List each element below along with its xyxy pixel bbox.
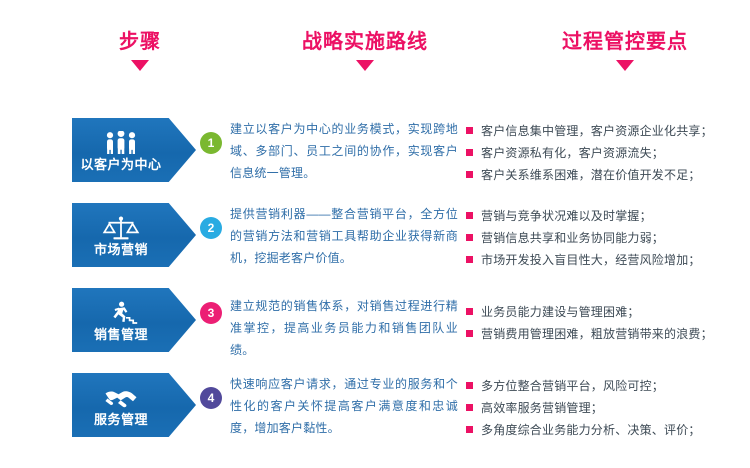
step-number-badge: 3 [200, 302, 222, 324]
square-bullet-icon [466, 404, 473, 411]
strategy-cell: 1 建立以客户为中心的业务模式，实现跨地域、多部门、员工之间的协作，实现客户信息… [198, 110, 460, 195]
header-title-strategy: 战略实施路线 [245, 30, 485, 54]
control-point-text: 市场开发投入盲目性大，经营风险增加； [481, 249, 701, 271]
list-item: 客户信息集中管理，客户资源企业化共享； [466, 120, 750, 142]
control-point-text: 营销费用管理困难，粗放营销带来的浪费； [481, 323, 713, 345]
control-points-cell: 业务员能力建设与管理困难； 营销费用管理困难，粗放营销带来的浪费； [466, 280, 750, 365]
column-headers: 步骤 战略实施路线 过程管控要点 [0, 30, 750, 92]
list-item: 营销与竞争状况难以及时掌握； [466, 205, 750, 227]
strategy-cell: 4 快速响应客户请求，通过专业的服务和个性化的客户关怀提高客户满意度和忠诚度，增… [198, 365, 460, 450]
runner-stairs-icon [101, 299, 141, 325]
stage-label: 以客户为中心 [80, 157, 161, 172]
header-column-control: 过程管控要点 [500, 30, 750, 71]
square-bullet-icon [466, 256, 473, 263]
square-bullet-icon [466, 426, 473, 433]
header-column-steps: 步骤 [50, 30, 230, 71]
stage-label: 市场营销 [94, 242, 148, 257]
strategy-description: 快速响应客户请求，通过专业的服务和个性化的客户关怀提高客户满意度和忠诚度，增加客… [230, 373, 458, 439]
stage-chevron-content: 服务管理 [72, 373, 170, 437]
stage-row: 销售管理 3 建立规范的销售体系，对销售过程进行精准掌控，提高业务员能力和销售团… [0, 280, 750, 365]
square-bullet-icon [466, 171, 473, 178]
control-point-text: 高效率服务营销管理； [481, 397, 603, 419]
square-bullet-icon [466, 308, 473, 315]
square-bullet-icon [466, 212, 473, 219]
caret-down-icon [131, 60, 149, 71]
control-point-text: 多方位整合营销平台，风险可控； [481, 375, 664, 397]
stage-chevron-customer-center[interactable]: 以客户为中心 [72, 118, 196, 182]
control-point-text: 客户资源私有化，客户资源流失； [481, 142, 664, 164]
square-bullet-icon [466, 149, 473, 156]
strategy-description: 建立以客户为中心的业务模式，实现跨地域、多部门、员工之间的协作，实现客户信息统一… [230, 118, 458, 184]
three-people-icon [101, 129, 141, 155]
stage-chevron-content: 销售管理 [72, 288, 170, 352]
list-item: 多方位整合营销平台，风险可控； [466, 375, 750, 397]
stage-chevron-content: 市场营销 [72, 203, 170, 267]
header-title-control: 过程管控要点 [500, 30, 750, 54]
stage-chevron-sales[interactable]: 销售管理 [72, 288, 196, 352]
square-bullet-icon [466, 127, 473, 134]
step-number-badge: 1 [200, 132, 222, 154]
handshake-icon [100, 384, 142, 410]
control-point-text: 业务员能力建设与管理困难； [481, 301, 640, 323]
list-item: 营销信息共享和业务协同能力弱； [466, 227, 750, 249]
stage-row: 服务管理 4 快速响应客户请求，通过专业的服务和个性化的客户关怀提高客户满意度和… [0, 365, 750, 450]
stage-chevron-marketing[interactable]: 市场营销 [72, 203, 196, 267]
caret-down-icon [616, 60, 634, 71]
control-point-text: 多角度综合业务能力分析、决策、评价； [481, 419, 701, 441]
square-bullet-icon [466, 330, 473, 337]
control-points-cell: 多方位整合营销平台，风险可控； 高效率服务营销管理； 多角度综合业务能力分析、决… [466, 365, 750, 450]
stage-row: 以客户为中心 1 建立以客户为中心的业务模式，实现跨地域、多部门、员工之间的协作… [0, 110, 750, 195]
list-item: 客户关系维系困难，潜在价值开发不足； [466, 164, 750, 186]
strategy-cell: 2 提供营销利器——整合营销平台，全方位的营销方法和营销工具帮助企业获得新商机，… [198, 195, 460, 280]
list-item: 客户资源私有化，客户资源流失； [466, 142, 750, 164]
stage-label: 服务管理 [94, 412, 148, 427]
step-number-badge: 4 [200, 387, 222, 409]
control-points-cell: 客户信息集中管理，客户资源企业化共享； 客户资源私有化，客户资源流失； 客户关系… [466, 110, 750, 195]
list-item: 高效率服务营销管理； [466, 397, 750, 419]
list-item: 市场开发投入盲目性大，经营风险增加； [466, 249, 750, 271]
stage-row: 市场营销 2 提供营销利器——整合营销平台，全方位的营销方法和营销工具帮助企业获… [0, 195, 750, 280]
stage-chevron-content: 以客户为中心 [72, 118, 170, 182]
stage-chevron-service[interactable]: 服务管理 [72, 373, 196, 437]
list-item: 多角度综合业务能力分析、决策、评价； [466, 419, 750, 441]
control-point-text: 客户信息集中管理，客户资源企业化共享； [481, 120, 713, 142]
strategy-description: 提供营销利器——整合营销平台，全方位的营销方法和营销工具帮助企业获得新商机，挖掘… [230, 203, 458, 269]
control-point-text: 营销与竞争状况难以及时掌握； [481, 205, 652, 227]
strategy-cell: 3 建立规范的销售体系，对销售过程进行精准掌控，提高业务员能力和销售团队业绩。 [198, 280, 460, 365]
control-points-cell: 营销与竞争状况难以及时掌握； 营销信息共享和业务协同能力弱； 市场开发投入盲目性… [466, 195, 750, 280]
stage-label: 销售管理 [94, 327, 148, 342]
strategy-description: 建立规范的销售体系，对销售过程进行精准掌控，提高业务员能力和销售团队业绩。 [230, 295, 458, 361]
control-point-text: 营销信息共享和业务协同能力弱； [481, 227, 664, 249]
balance-scale-icon [101, 214, 141, 240]
caret-down-icon [356, 60, 374, 71]
square-bullet-icon [466, 382, 473, 389]
header-title-steps: 步骤 [50, 30, 230, 54]
header-column-strategy: 战略实施路线 [245, 30, 485, 71]
square-bullet-icon [466, 234, 473, 241]
list-item: 营销费用管理困难，粗放营销带来的浪费； [466, 323, 750, 345]
list-item: 业务员能力建设与管理困难； [466, 301, 750, 323]
control-point-text: 客户关系维系困难，潜在价值开发不足； [481, 164, 701, 186]
infographic-page: 步骤 战略实施路线 过程管控要点 [0, 0, 750, 468]
step-number-badge: 2 [200, 217, 222, 239]
